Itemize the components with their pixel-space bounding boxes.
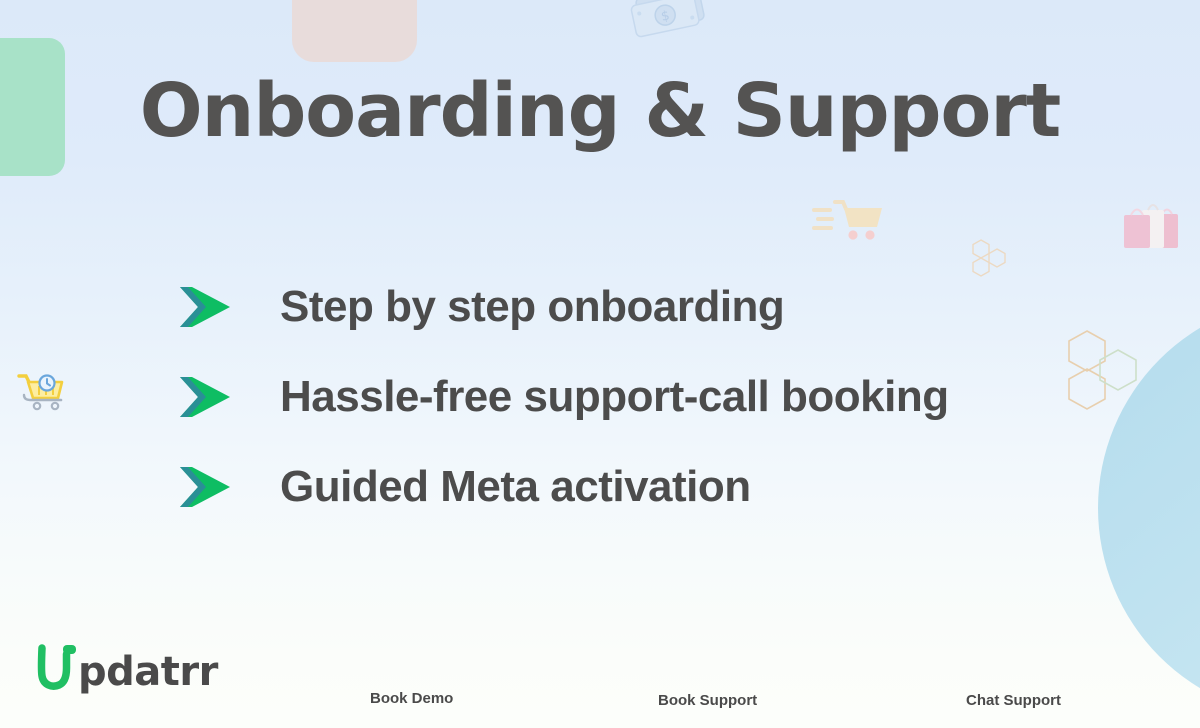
pink-rounded-rectangle bbox=[292, 0, 417, 62]
list-item-label: Hassle-free support-call booking bbox=[238, 372, 949, 422]
feature-bullet-list: Step by step onboarding Hassle-free supp… bbox=[176, 262, 1076, 532]
list-item: Step by step onboarding bbox=[176, 262, 1076, 352]
shopping-bags-icon bbox=[1118, 198, 1188, 254]
chat-support-label[interactable]: Chat Support bbox=[966, 692, 1061, 709]
presentation-slide: $ bbox=[0, 0, 1200, 728]
list-item-label: Guided Meta activation bbox=[238, 462, 751, 512]
brand-logo[interactable]: pdatrr bbox=[34, 638, 218, 694]
slide-title: Onboarding & Support bbox=[0, 74, 1200, 148]
list-item-label: Step by step onboarding bbox=[238, 282, 784, 332]
fast-shopping-cart-icon bbox=[812, 196, 886, 242]
updatrr-u-mark-icon bbox=[34, 640, 80, 694]
green-arrow-icon bbox=[176, 283, 238, 331]
list-item: Guided Meta activation bbox=[176, 442, 1076, 532]
brand-logo-wordmark: pdatrr bbox=[78, 652, 218, 692]
money-cash-icon: $ bbox=[624, 0, 716, 40]
book-demo-label[interactable]: Book Demo bbox=[370, 690, 453, 707]
svg-text:$: $ bbox=[660, 8, 671, 24]
large-blue-circle bbox=[1098, 298, 1200, 718]
book-support-label[interactable]: Book Support bbox=[658, 692, 757, 709]
list-item: Hassle-free support-call booking bbox=[176, 352, 1076, 442]
green-arrow-icon bbox=[176, 463, 238, 511]
green-arrow-icon bbox=[176, 373, 238, 421]
shopping-cart-clock-icon bbox=[16, 370, 70, 414]
